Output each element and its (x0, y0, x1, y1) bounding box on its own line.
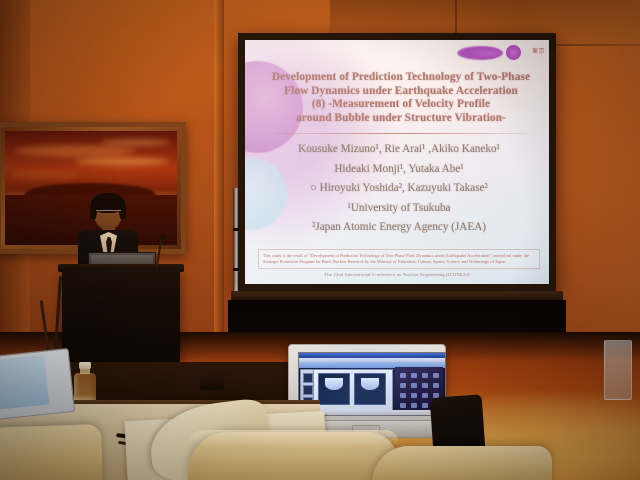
grid-cell (433, 373, 439, 378)
projection-screen: 東京 Development of Prediction Technology … (238, 33, 556, 291)
podium (62, 268, 180, 362)
foreground-laptop (0, 348, 75, 420)
bubble-image-right (354, 373, 386, 405)
author-line-2: Hideaki Monji¹, Yutaka Abe¹ (259, 160, 539, 180)
logo-text: 東京 (532, 46, 545, 55)
author-line-1: Kousuke Mizuno¹, Rie Arai¹ ,Akiko Kaneko… (259, 140, 539, 160)
table-object (200, 376, 224, 390)
affiliation-2: ²Japan Atomic Energy Agency (JAEA) (259, 218, 539, 238)
grid-cell (422, 403, 428, 408)
slide-title-line: Flow Dynamics under Earthquake Accelerat… (263, 85, 539, 99)
grid-cell (411, 403, 417, 408)
grid-cell (411, 383, 417, 388)
grid-cell (400, 393, 406, 398)
slide-footnote: This study is the result of “Development… (258, 249, 540, 269)
bottle-cap (79, 362, 91, 369)
grid-cell (400, 383, 406, 388)
grid-cell (422, 383, 428, 388)
wall-corner-edge (214, 0, 224, 332)
bubble-shape (325, 378, 343, 390)
bubble-shape (361, 378, 379, 390)
grid-cell (422, 393, 428, 398)
grid-cell (411, 373, 417, 378)
painting-cloud (9, 171, 79, 179)
painting-cloud (15, 145, 135, 157)
chair-highlight (188, 430, 398, 446)
foreground-laptop-screen (0, 355, 49, 410)
painting-cloud (100, 139, 170, 146)
foreground-glass (604, 340, 632, 400)
slide-title-line: Development of Prediction Technology of … (263, 71, 539, 85)
image-canvas[interactable] (313, 369, 393, 411)
bubble-image-left (318, 373, 350, 405)
thumbnail-item[interactable] (303, 373, 313, 383)
grid-cell (400, 373, 406, 378)
conference-logo-icon (457, 46, 503, 60)
slide-title-line: around Bubble under Structure Vibration- (263, 112, 539, 126)
slide-conference-footer: The 22nd International Conference on Nuc… (245, 272, 549, 277)
slide-surface: 東京 Development of Prediction Technology … (245, 40, 549, 284)
painting-cloud (75, 157, 170, 166)
slide-title: Development of Prediction Technology of … (263, 71, 539, 125)
grid-cell (411, 393, 417, 398)
grid-cell (422, 373, 428, 378)
laptop-screen (298, 352, 446, 416)
slide-divider (273, 133, 527, 134)
thumbnail-item[interactable] (303, 385, 313, 395)
author-line-3: ○ Hiroyuki Yoshida², Kazuyuki Takase² (259, 179, 539, 199)
conference-presentation-photo: 東京 Development of Prediction Technology … (0, 0, 640, 480)
grid-cell (400, 403, 406, 408)
slide-authors: Kousuke Mizuno¹, Rie Arai¹ ,Akiko Kaneko… (259, 140, 539, 238)
audience-chair (0, 424, 103, 480)
audience-chair (372, 446, 552, 480)
grid-cell (433, 383, 439, 388)
glasses-icon (96, 210, 121, 216)
microphone-icon (160, 235, 165, 240)
slide-title-line: (8) -Measurement of Velocity Profile (263, 98, 539, 112)
affiliation-1: ¹University of Tsukuba (259, 199, 539, 219)
conference-logo-dot-icon (506, 45, 521, 60)
